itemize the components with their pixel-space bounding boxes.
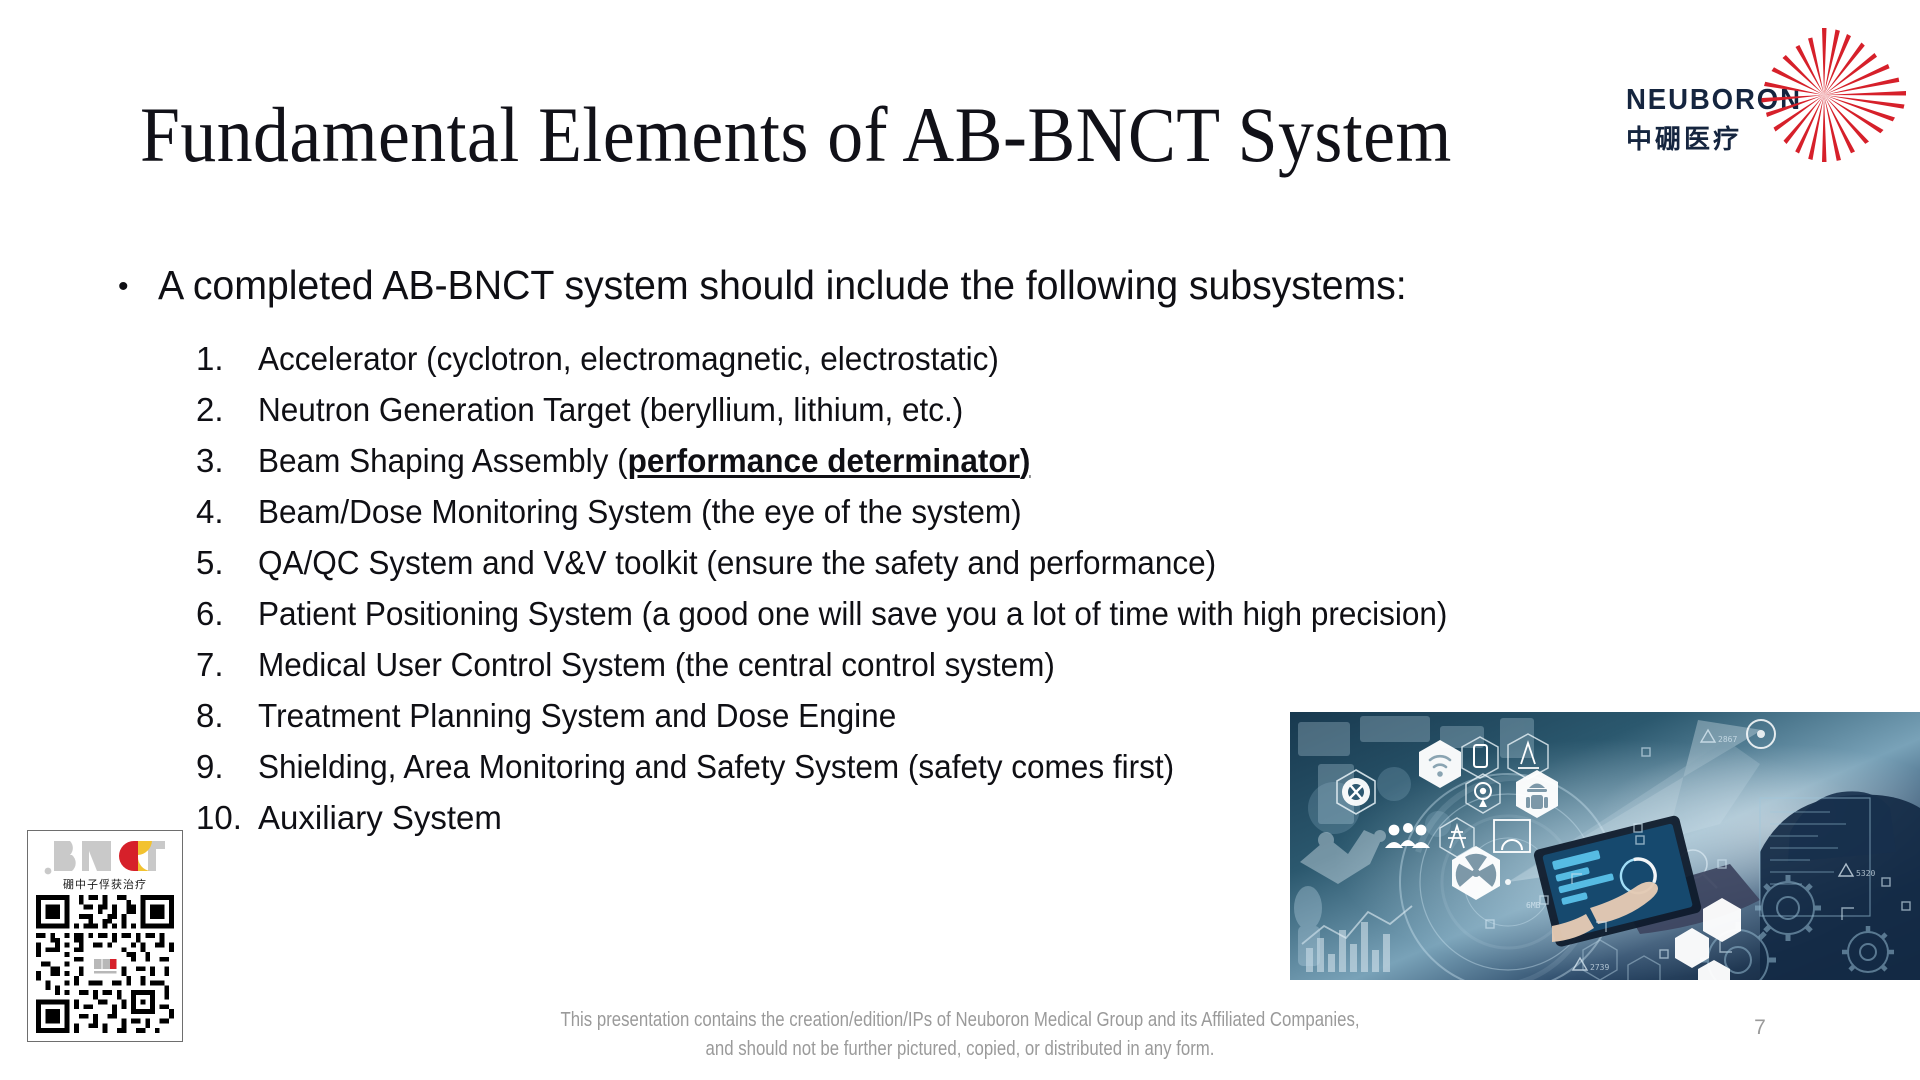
list-item-label: Neutron Generation Target (beryllium, li… <box>258 384 963 435</box>
list-item-label: Beam/Dose Monitoring System (the eye of … <box>258 486 1022 537</box>
technology-photo-graphic: 2867 5320 2739 6MB <box>1290 712 1920 980</box>
list-item-label: Shielding, Area Monitoring and Safety Sy… <box>258 741 1174 792</box>
list-item: 1.Accelerator (cyclotron, electromagneti… <box>196 333 1616 384</box>
list-item-number: 1. <box>196 333 258 384</box>
page-title: Fundamental Elements of AB-BNCT System <box>140 96 1452 174</box>
list-item-number: 10. <box>196 792 258 843</box>
list-item-label: Accelerator (cyclotron, electromagnetic,… <box>258 333 999 384</box>
list-item-label: Auxiliary System <box>258 792 502 843</box>
list-item: 4.Beam/Dose Monitoring System (the eye o… <box>196 486 1616 537</box>
list-item-suffix: ) <box>1020 442 1031 479</box>
list-item-number: 5. <box>196 537 258 588</box>
lead-bullet-line: •A completed AB-BNCT system should inclu… <box>118 262 1459 309</box>
list-item-number: 2. <box>196 384 258 435</box>
svg-text:2739: 2739 <box>1590 963 1609 972</box>
list-item-label: Beam Shaping Assembly (performance deter… <box>258 435 1030 486</box>
starburst-icon <box>1738 20 1910 170</box>
list-item-number: 7. <box>196 639 258 690</box>
svg-text:2867: 2867 <box>1718 735 1737 744</box>
footer-line-1: This presentation contains the creation/… <box>154 1006 1767 1035</box>
bnct-logo <box>36 837 174 877</box>
technology-photo: 2867 5320 2739 6MB <box>1290 712 1920 980</box>
page-number: 7 <box>1740 1016 1780 1040</box>
svg-text:6MB: 6MB <box>1526 901 1541 910</box>
svg-text:5320: 5320 <box>1856 869 1875 878</box>
bnct-chinese-subtitle: 硼中子俘获治疗 <box>36 876 174 892</box>
list-item-prefix: Beam Shaping Assembly ( <box>258 442 628 479</box>
list-item-label: Patient Positioning System (a good one w… <box>258 588 1447 639</box>
logo-chinese-name: 中硼医疗 <box>1626 119 1742 156</box>
list-item-label: Treatment Planning System and Dose Engin… <box>258 690 896 741</box>
list-item-number: 4. <box>196 486 258 537</box>
list-item-number: 9. <box>196 741 258 792</box>
list-item: 5.QA/QC System and V&V toolkit (ensure t… <box>196 537 1616 588</box>
list-item: 2.Neutron Generation Target (beryllium, … <box>196 384 1616 435</box>
list-item-label: QA/QC System and V&V toolkit (ensure the… <box>258 537 1216 588</box>
list-item: 6.Patient Positioning System (a good one… <box>196 588 1616 639</box>
lead-bullet-text: A completed AB-BNCT system should includ… <box>158 262 1407 309</box>
list-item: 7.Medical User Control System (the centr… <box>196 639 1616 690</box>
footer-disclaimer: This presentation contains the creation/… <box>0 1006 1920 1064</box>
list-item-number: 8. <box>196 690 258 741</box>
list-item-number: 3. <box>196 435 258 486</box>
list-item-number: 6. <box>196 588 258 639</box>
bnct-logo-graphic <box>42 837 168 877</box>
footer-line-2: and should not be further pictured, copi… <box>154 1035 1767 1064</box>
neuboron-logo: NEUBORON 中硼医疗 <box>1620 18 1910 168</box>
list-item: 3.Beam Shaping Assembly (performance det… <box>196 435 1616 486</box>
list-item-label: Medical User Control System (the central… <box>258 639 1055 690</box>
bullet-dot-icon: • <box>118 270 158 304</box>
list-item-emphasis: performance determinator <box>628 442 1020 479</box>
